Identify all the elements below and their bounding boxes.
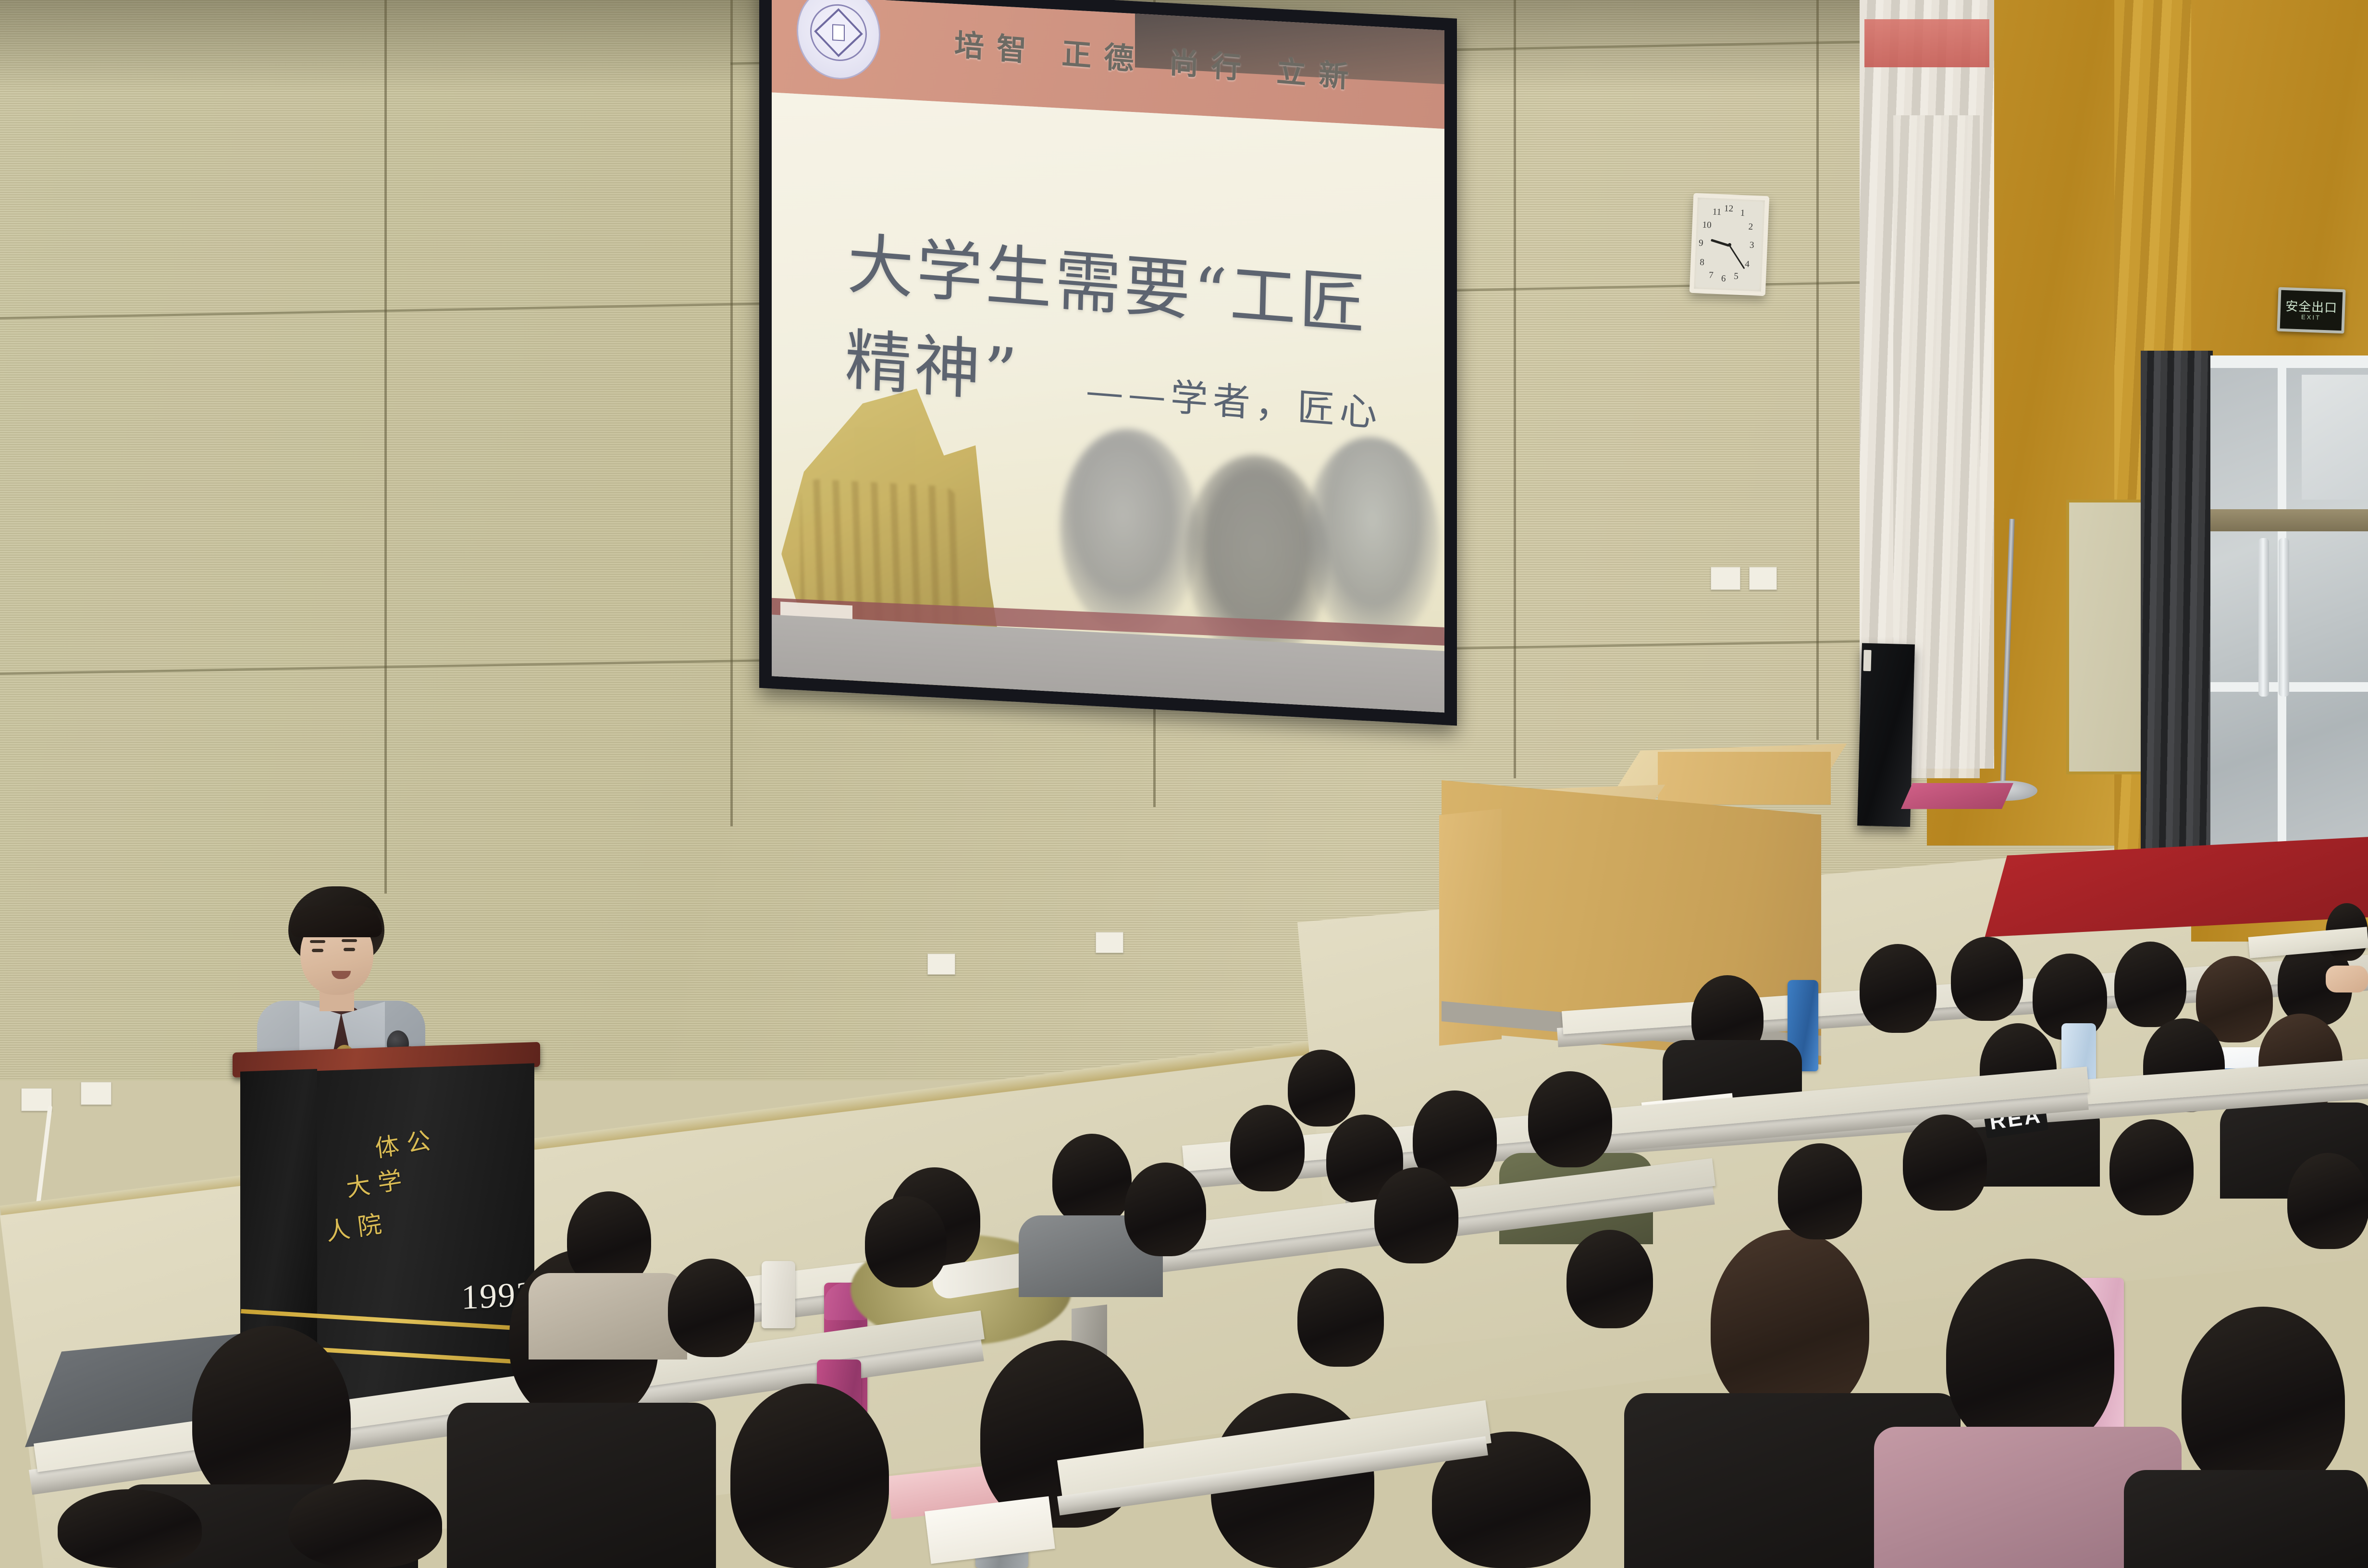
- clock-face: 12 1 2 3 4 5 6 7 8 9 10 11: [1696, 199, 1763, 289]
- clock-numeral: 4: [1745, 259, 1750, 269]
- lecturer-eye: [344, 948, 355, 951]
- door-mullion: [2210, 682, 2368, 692]
- wall-seam: [1514, 0, 1516, 778]
- student-head: [2109, 1119, 2194, 1215]
- lectern-inscription-bot: 人 院: [324, 1205, 383, 1248]
- exit-sign-english: EXIT: [2301, 314, 2321, 320]
- door-glass-panel: [2302, 375, 2368, 500]
- wall-socket[interactable]: [21, 1088, 52, 1111]
- student-head: [1566, 1230, 1653, 1328]
- clock-numeral: 9: [1699, 238, 1703, 248]
- speaker-label: [1863, 650, 1871, 671]
- student-head: [2287, 1153, 2368, 1249]
- lectern-inscription-mid: 大 学: [344, 1161, 404, 1203]
- wall-clock: 12 1 2 3 4 5 6 7 8 9 10 11: [1690, 193, 1770, 296]
- door-mullion: [2210, 355, 2368, 368]
- clock-numeral: 11: [1712, 207, 1721, 218]
- student-head: [668, 1259, 754, 1357]
- dark-curtain[interactable]: [2141, 351, 2213, 860]
- clock-numeral: 3: [1750, 240, 1754, 251]
- wall-socket[interactable]: [81, 1082, 111, 1105]
- student-head: [1374, 1167, 1458, 1263]
- clock-numeral: 2: [1748, 222, 1753, 233]
- student-head: [1778, 1143, 1862, 1239]
- student-head: [2182, 1307, 2345, 1494]
- wall-socket[interactable]: [1096, 932, 1123, 953]
- clock-numeral: 1: [1740, 208, 1745, 219]
- student-head: [58, 1489, 202, 1568]
- student-hand: [2326, 966, 2368, 992]
- student-head: [730, 1384, 889, 1568]
- white-cup: [762, 1261, 795, 1328]
- exit-sign: 安全出口 EXIT: [2277, 287, 2345, 334]
- student-head: [1124, 1163, 1206, 1256]
- clock-numeral: 12: [1724, 203, 1734, 214]
- door-rail: [2210, 509, 2368, 531]
- student-head: [1951, 937, 2023, 1021]
- control-desk-back-panel: [1658, 752, 1831, 805]
- wall-socket[interactable]: [1749, 567, 1777, 590]
- clock-numeral: 5: [1734, 271, 1739, 282]
- clock-numeral: 6: [1721, 273, 1726, 284]
- student-head: [1946, 1259, 2114, 1451]
- lecturer-eye: [312, 949, 323, 952]
- clock-hour-hand: [1711, 239, 1730, 247]
- clock-minute-hand: [1729, 245, 1745, 269]
- student-head: [865, 1196, 947, 1287]
- projection-screen[interactable]: 培智 正德 尚行 立新 大学生需要“工匠精神” ——学者，匠心: [759, 0, 1457, 726]
- lectern-front: 体 公 大 学 人 院 1993: [317, 1063, 534, 1407]
- clock-numeral: 7: [1709, 270, 1714, 281]
- lecturer-eyebrow: [342, 939, 357, 942]
- exit-sign-chinese: 安全出口: [2285, 300, 2338, 314]
- lecturer-eyebrow: [310, 940, 325, 943]
- lectern-inscription-top: 体 公: [373, 1121, 432, 1164]
- student-shoulders: [2124, 1470, 2368, 1568]
- student-head: [288, 1480, 442, 1568]
- student-shoulders: [529, 1273, 687, 1360]
- slide-body: 大学生需要“工匠精神” ——学者，匠心: [772, 92, 1444, 712]
- door-handle[interactable]: [2258, 538, 2269, 697]
- student-head: [1711, 1230, 1869, 1417]
- door-handle[interactable]: [2279, 538, 2289, 697]
- clock-numeral: 10: [1702, 220, 1712, 231]
- student-head: [1288, 1050, 1355, 1127]
- clock-numeral: 8: [1700, 257, 1704, 268]
- wall-seam: [730, 0, 733, 826]
- craftsman-photo-3: [1305, 434, 1440, 648]
- wall-socket[interactable]: [927, 954, 955, 975]
- wall-socket[interactable]: [1711, 567, 1740, 590]
- student-shoulders: [447, 1403, 716, 1568]
- wall-seam: [384, 0, 387, 894]
- pink-floor-mat: [1901, 783, 2013, 809]
- student-head: [1528, 1071, 1612, 1167]
- craftsman-photo-1: [1060, 425, 1199, 639]
- curtain-red-band: [1864, 19, 1989, 67]
- student-head: [1903, 1115, 1987, 1211]
- student-head: [192, 1326, 351, 1508]
- student-head: [1297, 1268, 1384, 1367]
- lecture-hall-photo: 培智 正德 尚行 立新 大学生需要“工匠精神” ——学者，匠心 12 1 2 3…: [0, 0, 2368, 1568]
- student-head: [1860, 944, 1936, 1033]
- wall-seam: [1816, 0, 1819, 740]
- lecturer-hair-front: [291, 906, 382, 937]
- student-head: [2114, 942, 2186, 1027]
- student-head: [1052, 1134, 1132, 1225]
- student-head: [1230, 1105, 1305, 1191]
